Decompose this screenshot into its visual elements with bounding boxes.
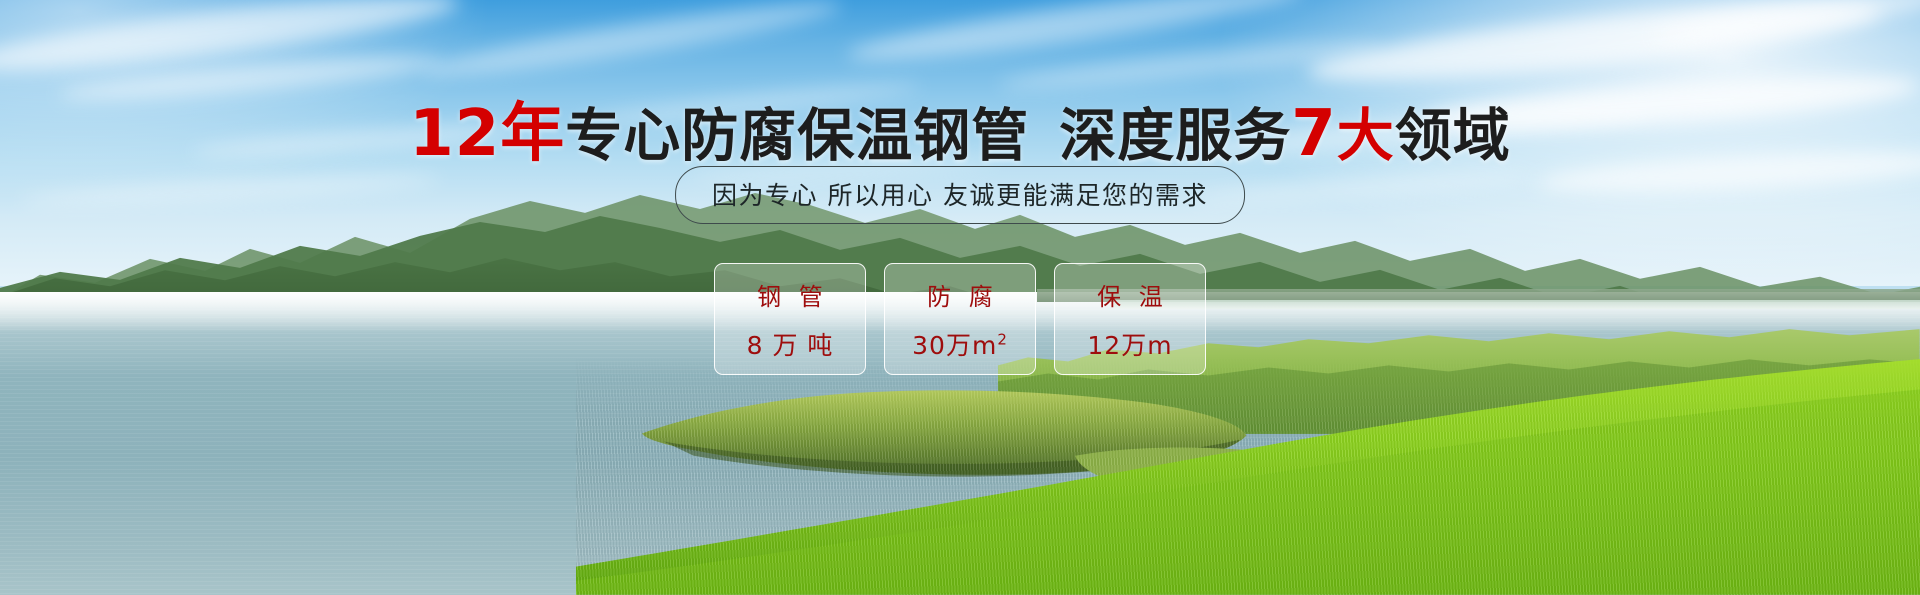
headline-highlight-unit: 大 [1337,103,1395,169]
stat-card-value: 30万m2 [912,326,1008,362]
stat-card-title: 防 腐 [922,277,998,312]
stat-card-value: 12万m [1087,326,1172,362]
stat-card-group: 钢 管 8 万 吨 防 腐 30万m2 保 温 12万m [714,263,1206,375]
stat-card-value-sup: 2 [997,330,1008,348]
banner-content: 12年专心防腐保温钢管深度服务7大领域 因为专心 所以用心 友诚更能满足您的需求… [0,0,1920,595]
stat-card-title: 保 温 [1092,277,1168,312]
hero-banner: 12年专心防腐保温钢管深度服务7大领域 因为专心 所以用心 友诚更能满足您的需求… [0,0,1920,595]
headline-text-tertiary: 领域 [1395,103,1511,169]
subtitle-text: 因为专心 所以用心 友诚更能满足您的需求 [712,181,1208,210]
headline: 12年专心防腐保温钢管深度服务7大领域 [0,82,1920,174]
stat-card-title: 钢 管 [752,277,828,312]
stat-card-steel-pipe: 钢 管 8 万 吨 [714,263,866,375]
stat-card-value-text: 30万m [912,331,997,360]
subtitle-pill: 因为专心 所以用心 友诚更能满足您的需求 [675,166,1245,224]
headline-text-secondary: 深度服务 [1059,103,1291,169]
stat-card-value-text: 8 万 吨 [747,331,834,360]
headline-text-primary: 专心防腐保温钢管 [565,103,1029,169]
headline-highlight-number: 7 [1291,97,1337,171]
headline-highlight-years: 12年 [409,97,565,171]
stat-card-value-text: 12万m [1087,331,1172,360]
stat-card-insulation: 保 温 12万m [1054,263,1206,375]
stat-card-value: 8 万 吨 [747,326,834,362]
stat-card-anticorrosion: 防 腐 30万m2 [884,263,1036,375]
